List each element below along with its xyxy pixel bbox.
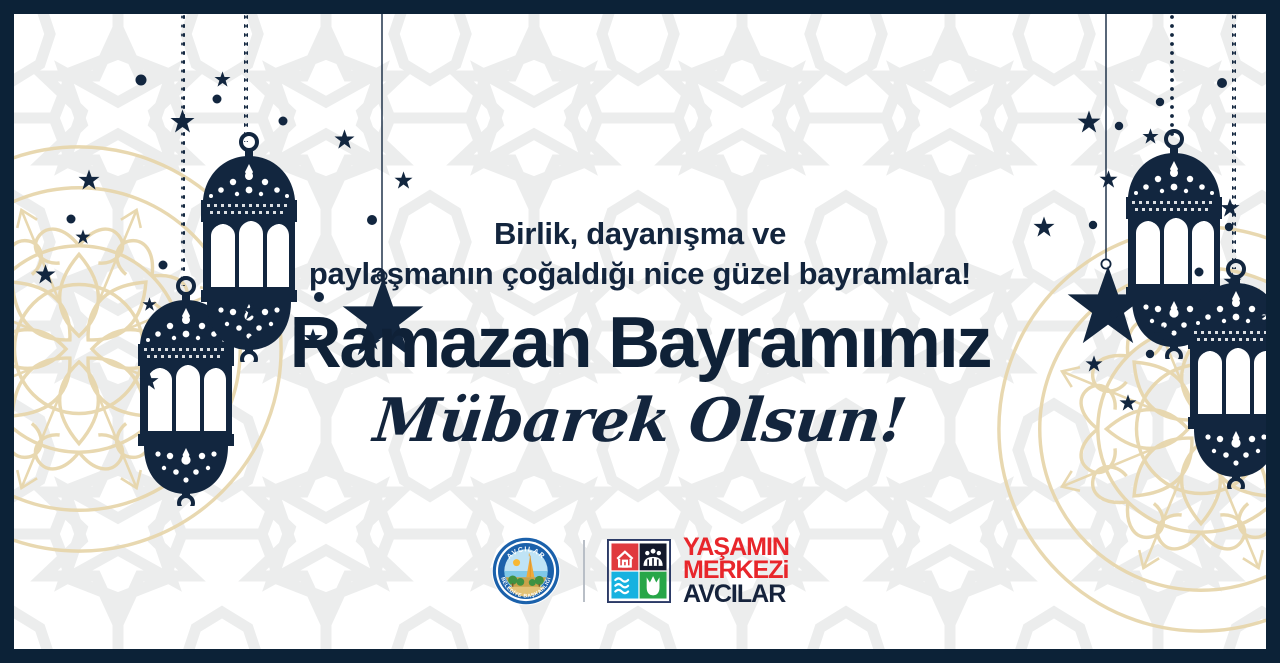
logo-divider	[583, 540, 585, 602]
greeting-headline: Ramazan Bayramımız	[290, 307, 991, 379]
footer-logos: AVCILAR BELEDİYE BAŞKANLIĞI	[14, 536, 1266, 606]
people-icon	[640, 543, 667, 570]
avcilar-municipality-seal-icon[interactable]: AVCILAR BELEDİYE BAŞKANLIĞI	[491, 536, 561, 606]
card-canvas: Birlik, dayanışma ve paylaşmanın çoğaldı…	[14, 14, 1266, 649]
subheading-line-2: paylaşmanın çoğaldığı nice güzel bayraml…	[309, 254, 971, 294]
subheading-line-1: Birlik, dayanışma ve	[494, 216, 786, 251]
brand-text: YAŞAMIN MERKEZi AVCILAR	[683, 536, 789, 606]
brand-line-3: AVCILAR	[683, 583, 789, 606]
yasamin-merkezi-brand[interactable]: YAŞAMIN MERKEZi AVCILAR	[607, 536, 789, 606]
greeting-script-line: Mübarek Olsun!	[371, 387, 910, 456]
greeting-subheading: Birlik, dayanışma ve paylaşmanın çoğaldı…	[309, 214, 971, 293]
four-tile-logo-icon[interactable]	[607, 539, 671, 603]
greeting-card: Birlik, dayanışma ve paylaşmanın çoğaldı…	[0, 0, 1280, 663]
